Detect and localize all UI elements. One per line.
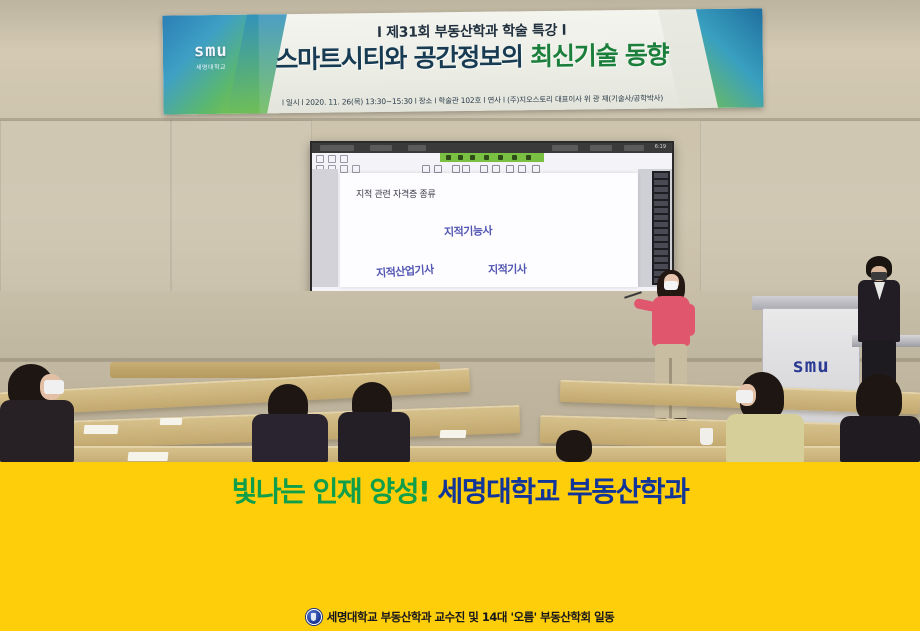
smu-logo-subtext: 세명대학교 <box>175 62 247 72</box>
promo-banner: 빛나는 인재 양성! 세명대학교 부동산학과 <box>0 462 920 631</box>
handwriting-3: 지적기사 <box>488 261 527 278</box>
smu-logo-text: smu <box>175 41 247 62</box>
event-banner: smu 세명대학교 l 제31회 부동산학과 학술 특강 l 스마트시티와 공간… <box>162 8 763 114</box>
footer-credit-text: 세명대학교 부동산학과 교수진 및 14대 '오름' 부동산학회 일동 <box>327 609 615 625</box>
slide-title: 지적 관련 자격증 종류 <box>356 187 436 200</box>
face-mask-icon <box>736 390 753 403</box>
audience-torso <box>338 412 410 462</box>
wall-panel <box>0 120 172 302</box>
screenshot-root: smu 세명대학교 l 제31회 부동산학과 학술 특강 l 스마트시티와 공간… <box>0 0 920 631</box>
projection-screen: 6:19 <box>310 141 674 295</box>
footer-credit: 세명대학교 부동산학과 교수진 및 14대 '오름' 부동산학회 일동 <box>0 609 920 625</box>
audience-hair <box>856 374 902 422</box>
speaker-right-arm <box>684 304 695 336</box>
smu-logo: smu 세명대학교 <box>175 41 247 72</box>
app-ribbon <box>440 153 544 162</box>
audience-torso <box>252 414 328 462</box>
promo-headline: 빛나는 인재 양성! 세명대학교 부동산학과 <box>0 470 920 510</box>
face-mask-icon <box>871 272 887 280</box>
handwriting-1: 지적기능사 <box>444 222 493 240</box>
podium-logo-text: smu <box>763 355 859 377</box>
banner-title-part2: 최신기술 동향 <box>530 40 669 71</box>
lecture-hall-photo: smu 세명대학교 l 제31회 부동산학과 학술 특강 l 스마트시티와 공간… <box>0 0 920 462</box>
promo-headline-part2: 세명대학교 부동산학과 <box>429 475 688 508</box>
audience-torso <box>0 400 74 462</box>
banner-text-block: l 제31회 부동산학과 학술 특강 l 스마트시티와 공간정보의 최신기술 동… <box>258 9 685 113</box>
clock-text: 6:19 <box>655 144 666 150</box>
banner-info-line: l 일시 l 2020. 11. 26(목) 13:30~15:30 l 장소 … <box>259 92 685 108</box>
banner-title: 스마트시티와 공간정보의 최신기술 동향 <box>259 35 685 76</box>
paper-sheet <box>128 452 169 461</box>
university-emblem-icon <box>306 609 322 625</box>
wall-panel <box>170 120 312 302</box>
banner-right-graphic <box>684 8 763 108</box>
slide-canvas: 지적 관련 자격증 종류 지적기능사 지적산업기사 지적기사 <box>340 173 638 287</box>
slide-thumbnail-panel <box>312 169 338 287</box>
app-titlebar: 6:19 <box>312 143 672 153</box>
filmstrip <box>652 171 670 285</box>
face-mask-icon <box>664 281 678 290</box>
handwriting-2: 지적산업기사 <box>376 261 435 281</box>
toolbar-icons <box>422 164 552 172</box>
paper-sheet <box>440 430 467 438</box>
audience-torso <box>840 416 920 462</box>
paper-cup <box>700 428 713 445</box>
paper-sheet <box>160 418 183 425</box>
promo-headline-part1: 빛나는 인재 양성! <box>232 475 430 508</box>
projected-slide: 6:19 <box>312 143 672 293</box>
audience-hair <box>556 430 592 462</box>
paper-sheet <box>84 425 119 434</box>
face-mask-icon <box>44 380 64 394</box>
banner-title-part1: 스마트시티와 공간정보의 <box>275 42 530 74</box>
audience-torso <box>726 414 804 462</box>
